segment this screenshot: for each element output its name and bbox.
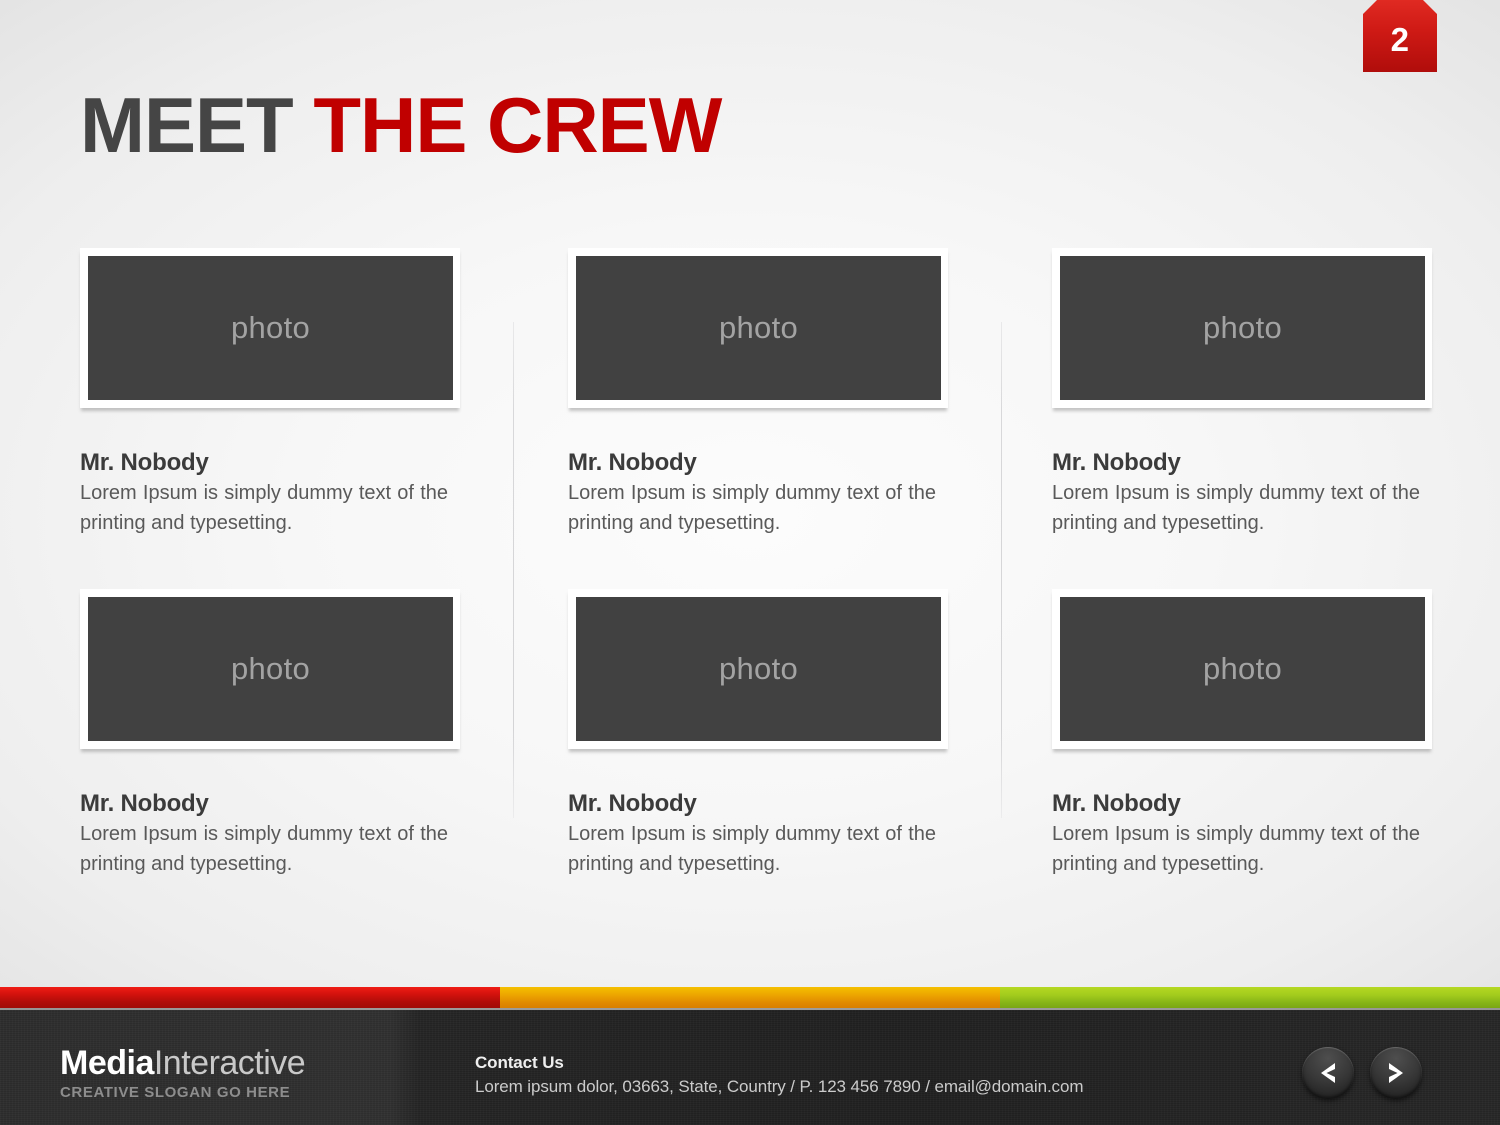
photo-placeholder-label: photo xyxy=(231,310,310,346)
column-divider-right xyxy=(1001,322,1002,818)
photo-placeholder-label: photo xyxy=(1203,651,1282,687)
member-description: Lorem Ipsum is simply dummy text of the … xyxy=(568,479,936,538)
photo-placeholder-label: photo xyxy=(719,651,798,687)
column-divider-left xyxy=(513,322,514,818)
photo-frame[interactable]: photo xyxy=(80,248,460,408)
chevron-right-icon xyxy=(1386,1062,1406,1084)
crew-member-card[interactable]: photo Mr. Nobody Lorem Ipsum is simply d… xyxy=(1052,589,1432,880)
member-name: Mr. Nobody xyxy=(1052,450,1432,476)
photo-placeholder: photo xyxy=(88,256,453,400)
photo-frame[interactable]: photo xyxy=(568,248,948,408)
member-name: Mr. Nobody xyxy=(568,450,948,476)
contact-info: Contact Us Lorem ipsum dolor, 03663, Sta… xyxy=(475,1053,1083,1098)
photo-placeholder-label: photo xyxy=(1203,310,1282,346)
contact-title: Contact Us xyxy=(475,1053,1083,1073)
brand-logo-title: MediaInteractive xyxy=(60,1046,305,1080)
brand-slogan: CREATIVE SLOGAN GO HERE xyxy=(60,1084,305,1101)
brand-logo-light: Interactive xyxy=(154,1044,305,1082)
member-description: Lorem Ipsum is simply dummy text of the … xyxy=(80,820,448,879)
crew-member-card[interactable]: photo Mr. Nobody Lorem Ipsum is simply d… xyxy=(1052,248,1432,539)
stripe-segment-orange xyxy=(500,987,1000,1008)
member-description: Lorem Ipsum is simply dummy text of the … xyxy=(568,820,936,879)
member-name: Mr. Nobody xyxy=(1052,791,1432,817)
stripe-segment-red xyxy=(0,987,500,1008)
photo-placeholder: photo xyxy=(1060,256,1425,400)
photo-placeholder-label: photo xyxy=(231,651,310,687)
photo-frame[interactable]: photo xyxy=(80,589,460,749)
brand-logo: MediaInteractive CREATIVE SLOGAN GO HERE xyxy=(60,1046,305,1101)
brand-logo-strong: Media xyxy=(60,1044,154,1082)
photo-frame[interactable]: photo xyxy=(568,589,948,749)
member-name: Mr. Nobody xyxy=(568,791,948,817)
photo-placeholder: photo xyxy=(88,597,453,741)
photo-placeholder-label: photo xyxy=(719,310,798,346)
crew-grid: photo Mr. Nobody Lorem Ipsum is simply d… xyxy=(0,0,1500,1125)
photo-placeholder: photo xyxy=(576,597,941,741)
previous-slide-button[interactable] xyxy=(1302,1047,1354,1099)
photo-frame[interactable]: photo xyxy=(1052,589,1432,749)
crew-member-card[interactable]: photo Mr. Nobody Lorem Ipsum is simply d… xyxy=(568,248,948,539)
member-description: Lorem Ipsum is simply dummy text of the … xyxy=(1052,479,1420,538)
photo-frame[interactable]: photo xyxy=(1052,248,1432,408)
slide-canvas: 2 MEET THE CREW photo Mr. Nobody Lorem I… xyxy=(0,0,1500,1125)
stripe-segment-green xyxy=(1000,987,1500,1008)
member-description: Lorem Ipsum is simply dummy text of the … xyxy=(80,479,448,538)
photo-placeholder: photo xyxy=(1060,597,1425,741)
photo-placeholder: photo xyxy=(576,256,941,400)
member-name: Mr. Nobody xyxy=(80,450,460,476)
chevron-left-icon xyxy=(1318,1062,1338,1084)
member-description: Lorem Ipsum is simply dummy text of the … xyxy=(1052,820,1420,879)
contact-details: Lorem ipsum dolor, 03663, State, Country… xyxy=(475,1077,1083,1097)
member-name: Mr. Nobody xyxy=(80,791,460,817)
crew-member-card[interactable]: photo Mr. Nobody Lorem Ipsum is simply d… xyxy=(80,589,460,880)
crew-member-card[interactable]: photo Mr. Nobody Lorem Ipsum is simply d… xyxy=(80,248,460,539)
crew-member-card[interactable]: photo Mr. Nobody Lorem Ipsum is simply d… xyxy=(568,589,948,880)
next-slide-button[interactable] xyxy=(1370,1047,1422,1099)
footer-bar: MediaInteractive CREATIVE SLOGAN GO HERE… xyxy=(0,1010,1500,1125)
accent-color-stripe xyxy=(0,987,1500,1008)
slide-navigation xyxy=(1302,1047,1422,1099)
